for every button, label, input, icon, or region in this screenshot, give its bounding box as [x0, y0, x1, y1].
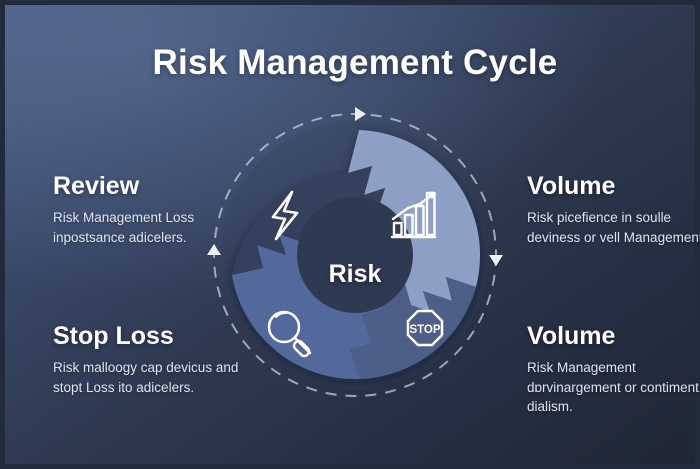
- cycle-arrow-left-icon: [207, 244, 221, 255]
- stop-sign-label: STOP: [409, 324, 440, 336]
- info-block-volume-top: Volume Risk picefience in soulle devines…: [527, 173, 700, 247]
- info-block-volume-bottom-body: Risk Management dɒrvinargement or contim…: [527, 358, 700, 416]
- cycle-arrow-top-icon: [355, 107, 366, 121]
- center-hub-circle[interactable]: [297, 197, 413, 313]
- page-title: Risk Management Cycle: [5, 43, 700, 83]
- info-block-volume-bottom: Volume Risk Management dɒrvinargement or…: [527, 323, 700, 416]
- info-block-volume-top-heading: Volume: [527, 173, 700, 199]
- risk-cycle-wheel: STOP: [180, 105, 530, 405]
- info-block-volume-top-body: Risk picefience in soulle deviness or ve…: [527, 208, 700, 247]
- infographic-canvas: Risk Management Cycle Review Risk Manage…: [0, 0, 700, 469]
- cycle-arrow-right-icon: [489, 255, 503, 266]
- info-block-volume-bottom-heading: Volume: [527, 323, 700, 349]
